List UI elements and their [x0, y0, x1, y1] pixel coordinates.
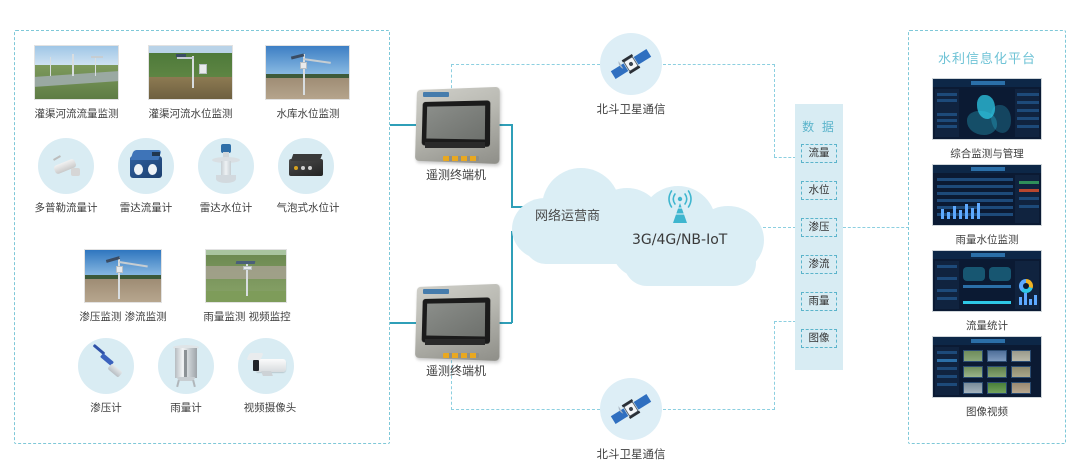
video-camera-icon	[248, 352, 288, 380]
data-chip-pressure: 渗压	[801, 218, 837, 237]
photo-reservoir-level-monitoring	[265, 45, 350, 100]
bubble-level-gauge-icon	[289, 154, 323, 180]
satellite-icon	[609, 388, 653, 430]
piezometer-icon	[88, 346, 124, 386]
photo-caption: 雨量监测 视频监控	[186, 309, 308, 324]
rtu-ports	[443, 156, 479, 161]
device-label: 雷达水位计	[190, 200, 262, 215]
photo-caption: 水库水位监测	[252, 106, 364, 121]
photo-seepage-monitoring	[84, 249, 162, 303]
photo-caption: 灌渠河流水位监测	[128, 106, 253, 121]
device-label: 雷达流量计	[110, 200, 182, 215]
data-column-title: 数 据	[795, 118, 843, 135]
rtu-label-strip	[425, 339, 485, 345]
data-chip-rainfall: 雨量	[801, 292, 837, 311]
cell-tower-icon	[664, 190, 696, 224]
photo-rainfall-video-monitoring	[205, 249, 287, 303]
device-label: 视频摄像头	[232, 400, 308, 415]
platform-title: 水利信息化平台	[908, 48, 1066, 67]
link-satellite-bottom-right	[663, 409, 775, 410]
rtu-ports	[443, 353, 479, 358]
device-label: 雨量计	[156, 400, 216, 415]
rtu-terminal-bottom	[413, 285, 499, 359]
link-satellite-bottom-to-data	[774, 321, 796, 322]
data-chip-level: 水位	[801, 181, 837, 200]
link-satellite-top-down	[774, 64, 775, 157]
rtu-top-label: 遥测终端机	[408, 166, 504, 183]
dashboard-caption: 雨量水位监测	[908, 232, 1066, 247]
rtu-bottom-label: 遥测终端机	[408, 362, 504, 379]
radar-level-gauge-icon	[210, 144, 242, 188]
dashboard-image-video[interactable]	[932, 336, 1042, 398]
doppler-flowmeter-icon	[52, 152, 82, 180]
link-satellite-top-to-data	[774, 157, 796, 158]
rtu-brand-tag	[423, 289, 449, 294]
photo-caption: 渗压监测 渗流监测	[62, 309, 184, 324]
rtu-label-strip	[425, 142, 485, 148]
rtu-terminal-top	[413, 88, 499, 162]
satellite-top-label: 北斗卫星通信	[566, 101, 696, 117]
data-chip-image: 图像	[801, 329, 837, 348]
device-label: 渗压计	[76, 400, 136, 415]
radar-flowmeter-icon	[130, 150, 162, 182]
satellite-icon	[609, 43, 653, 85]
dashboard-flow-statistics[interactable]	[932, 250, 1042, 312]
link-satellite-bottom-left	[451, 409, 600, 410]
dashboard-caption: 流量统计	[908, 318, 1066, 333]
dashboard-comprehensive-monitoring[interactable]	[932, 78, 1042, 140]
link-data-to-platform	[843, 227, 909, 228]
cloud-operator-label: 网络运营商	[535, 205, 600, 224]
dashboard-caption: 综合监测与管理	[908, 146, 1066, 161]
data-chip-flow: 流量	[801, 144, 837, 163]
device-label: 多普勒流量计	[26, 200, 106, 215]
rain-gauge-icon	[172, 345, 200, 389]
dashboard-caption: 图像视频	[908, 404, 1066, 419]
photo-caption: 灌渠河流流量监测	[14, 106, 139, 121]
diagram-canvas: 灌渠河流流量监测 灌渠河流水位监测 水库水位监测 多普勒流量计 雷达流量计	[0, 0, 1080, 473]
rtu-brand-tag	[423, 92, 449, 97]
satellite-bottom-label: 北斗卫星通信	[566, 446, 696, 462]
data-chip-seepage: 渗流	[801, 255, 837, 274]
cloud-network-label: 3G/4G/NB-IoT	[632, 232, 727, 248]
link-satellite-top-right	[663, 64, 775, 65]
link-satellite-top-left	[451, 64, 600, 65]
photo-canal-level-monitoring	[148, 45, 233, 100]
photo-canal-flow-monitoring	[34, 45, 119, 100]
link-satellite-bottom-up	[774, 321, 775, 410]
device-label: 气泡式水位计	[266, 200, 350, 215]
data-column: 数 据 流量 水位 渗压 渗流 雨量 图像	[795, 104, 843, 370]
dashboard-rainfall-level-monitoring[interactable]	[932, 164, 1042, 226]
